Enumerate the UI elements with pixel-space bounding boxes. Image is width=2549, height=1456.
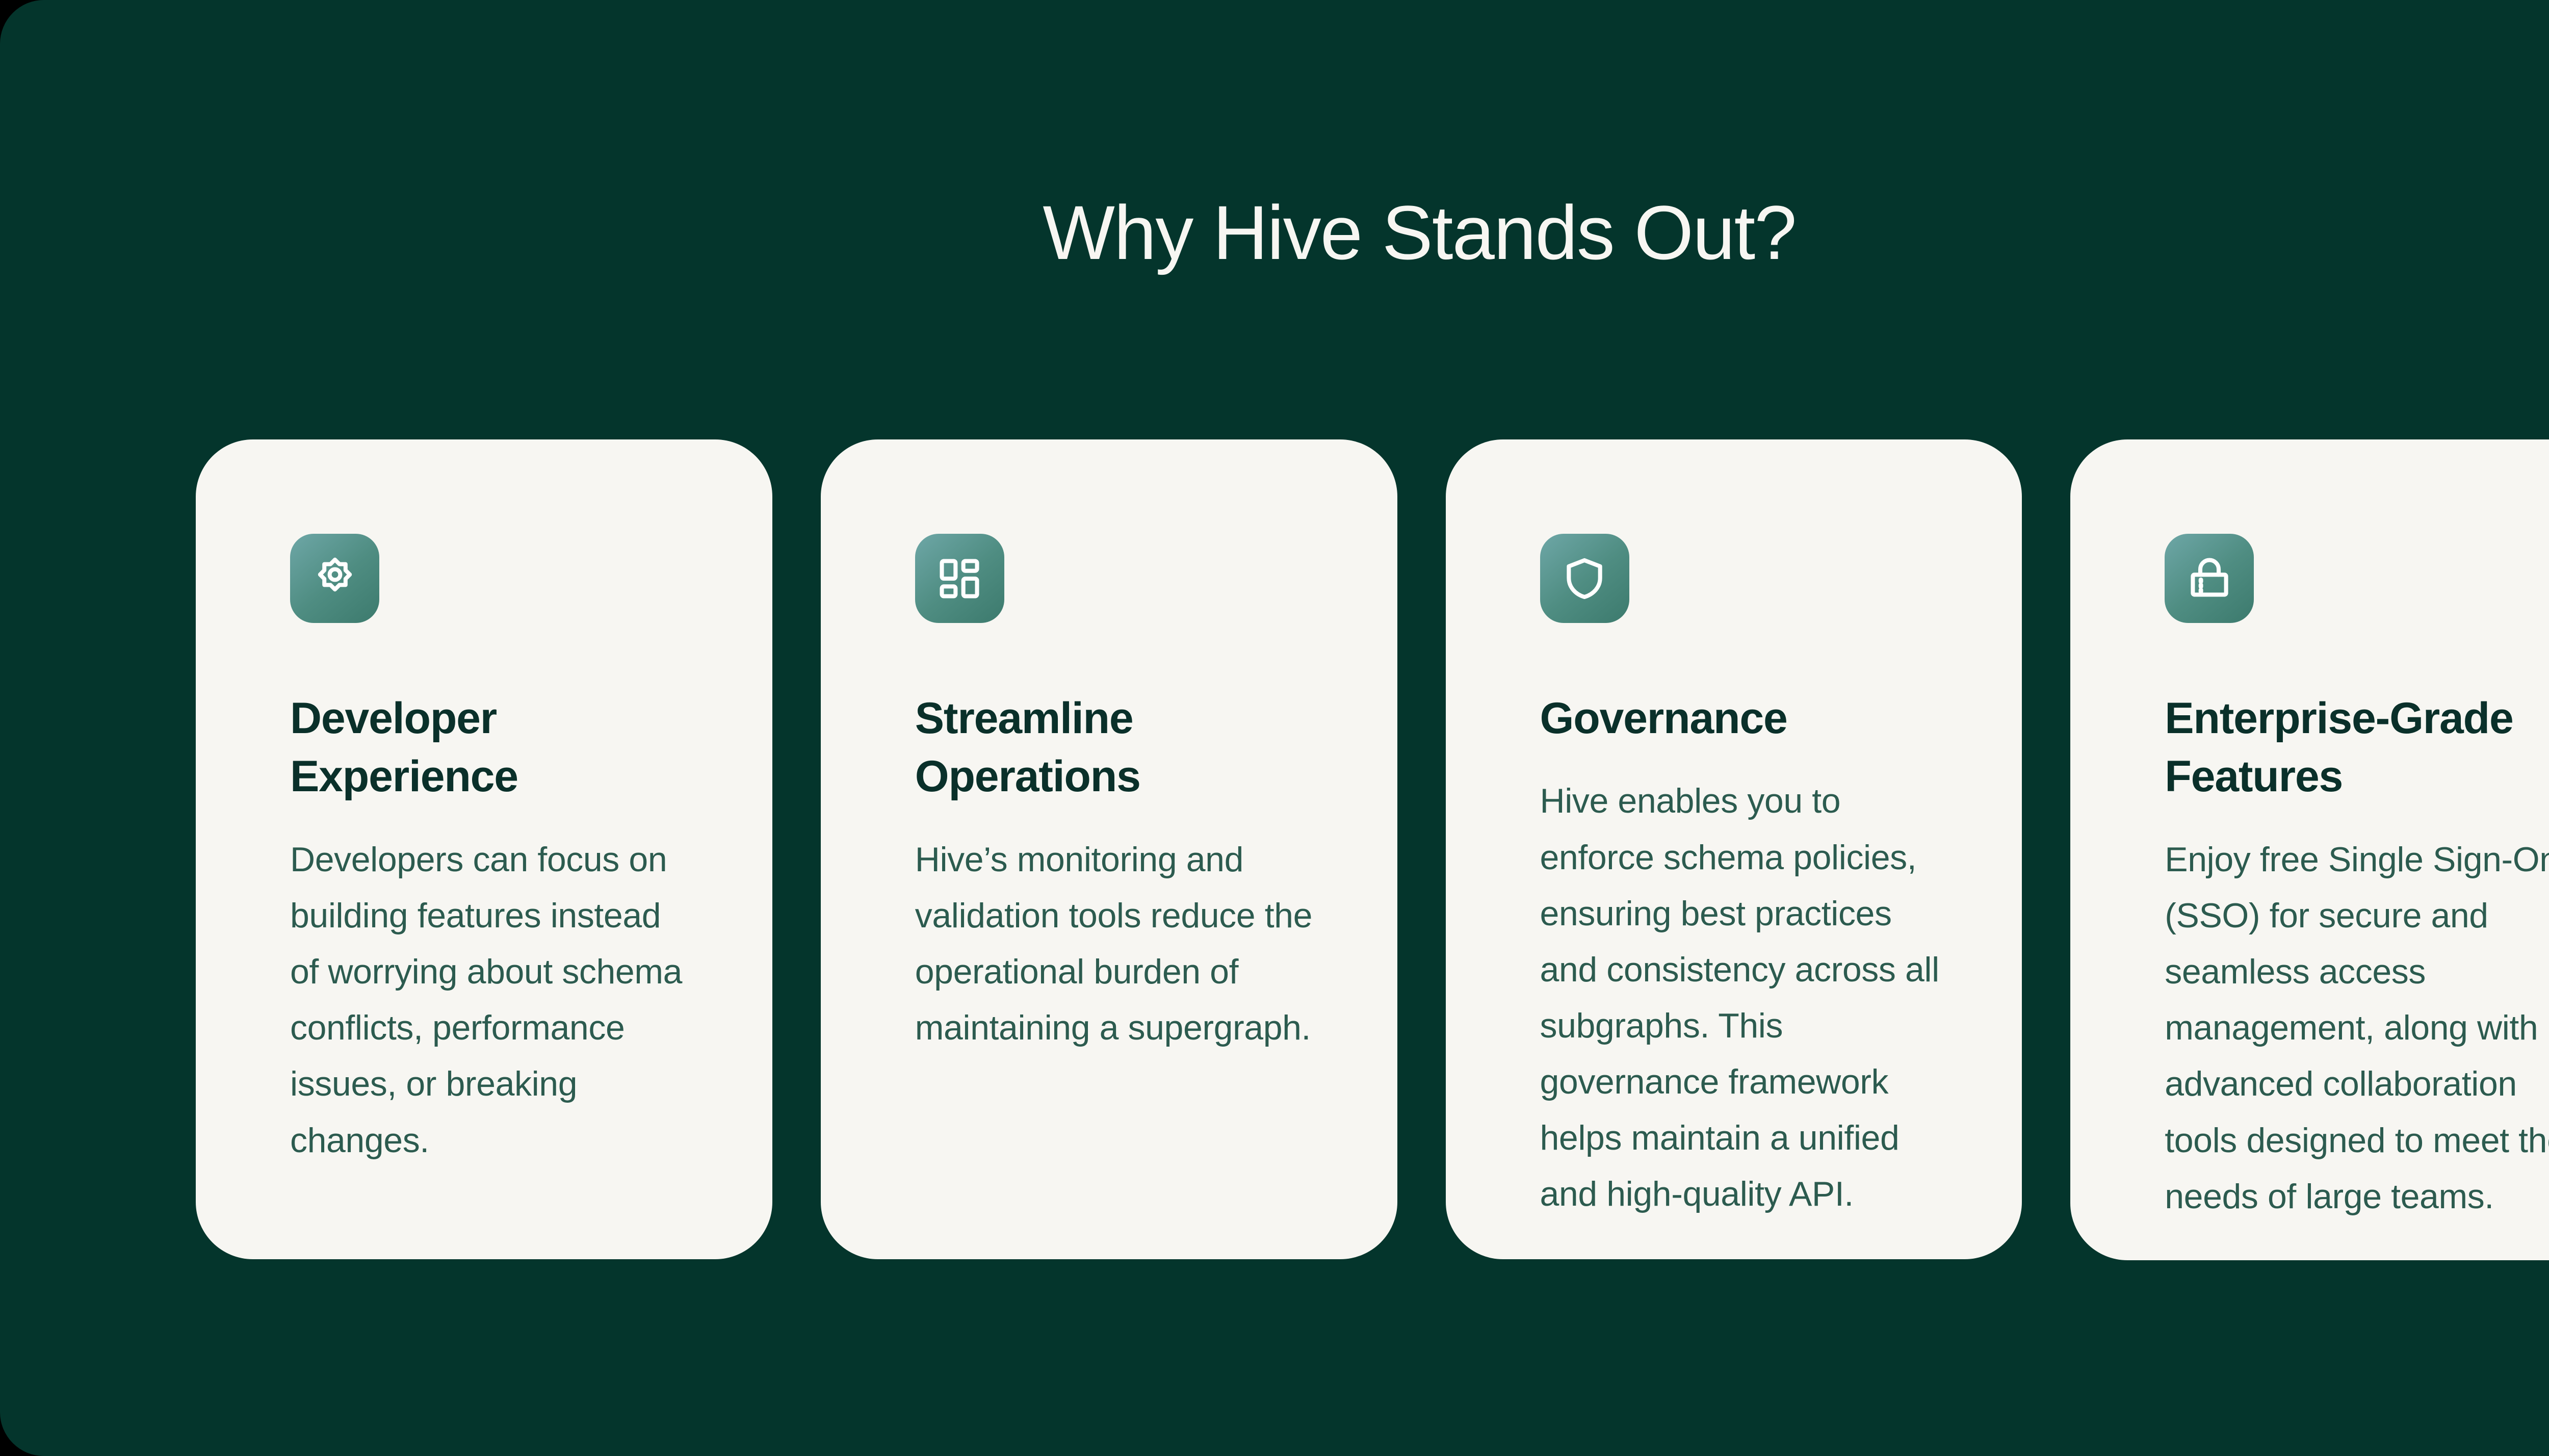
card-body: Developers can focus on building feature… — [290, 831, 698, 1204]
icon-badge — [1540, 534, 1629, 623]
card-body: Enjoy free Single Sign-On (SSO) for secu… — [2165, 831, 2549, 1260]
card-heading: Governance — [1540, 689, 1787, 747]
page-root: Why Hive Stands Out? Developer Experienc… — [0, 0, 2549, 1456]
icon-badge — [290, 534, 379, 623]
feature-card-grid: Developer Experience Developers can focu… — [196, 439, 2549, 1260]
feature-card[interactable]: Enterprise-Grade Features Enjoy free Sin… — [2070, 439, 2549, 1260]
page-title: Why Hive Stands Out? — [0, 190, 2549, 275]
icon-badge — [915, 534, 1004, 623]
card-body: Hive’s monitoring and validation tools r… — [915, 831, 1323, 1092]
card-heading: Developer Experience — [290, 689, 693, 806]
feature-card[interactable]: Developer Experience Developers can focu… — [196, 439, 772, 1259]
layout-dashboard-icon — [936, 555, 983, 602]
feature-card[interactable]: Streamline Operations Hive’s monitoring … — [821, 439, 1397, 1259]
card-body: Hive enables you to enforce schema polic… — [1540, 773, 1948, 1258]
card-heading: Streamline Operations — [915, 689, 1318, 806]
gear-sun-icon — [310, 554, 359, 603]
shield-icon — [1561, 555, 1608, 602]
feature-card[interactable]: Governance Hive enables you to enforce s… — [1446, 439, 2022, 1259]
icon-badge — [2165, 534, 2254, 623]
lock-icon — [2186, 555, 2233, 602]
card-heading: Enterprise-Grade Features — [2165, 689, 2549, 806]
